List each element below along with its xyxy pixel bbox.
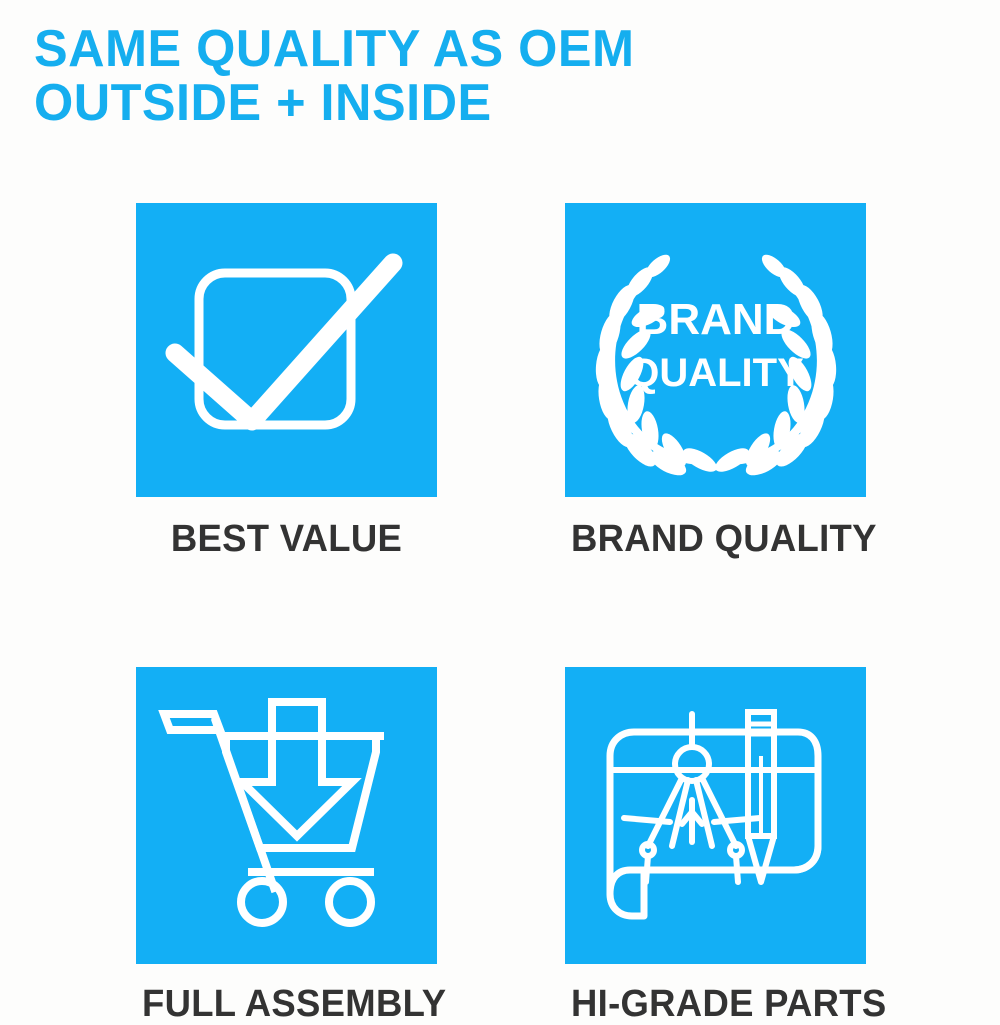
checkbox-check-icon: [157, 225, 417, 475]
headline: SAME QUALITY AS OEM OUTSIDE + INSIDE: [34, 22, 934, 130]
badge-text-quality: QUALITY: [628, 351, 804, 395]
headline-line-1: SAME QUALITY AS OEM: [34, 22, 907, 76]
feature-caption-hi-grade-parts: HI-GRADE PARTS: [571, 984, 860, 1024]
feature-tile-brand-quality: BRAND QUALITY: [565, 203, 866, 497]
feature-caption-best-value: BEST VALUE: [142, 519, 431, 559]
feature-item-brand-quality: BRAND QUALITY BRAND QUALITY: [565, 203, 866, 559]
pencil-icon: [748, 712, 774, 882]
shopping-cart-download-icon: [156, 696, 418, 936]
feature-caption-full-assembly: FULL ASSEMBLY: [142, 984, 431, 1024]
badge-text-brand: BRAND: [636, 295, 795, 344]
feature-item-best-value: BEST VALUE: [136, 203, 437, 559]
compass-icon: [624, 714, 760, 882]
feature-tile-full-assembly: [136, 667, 437, 964]
blueprint-compass-pencil-icon: [596, 696, 836, 936]
feature-caption-brand-quality: BRAND QUALITY: [571, 519, 860, 559]
laurel-wreath-icon: BRAND QUALITY: [578, 224, 854, 476]
headline-line-2: OUTSIDE + INSIDE: [34, 76, 907, 130]
feature-item-hi-grade-parts: HI-GRADE PARTS: [565, 667, 866, 1024]
download-arrow-icon: [242, 702, 352, 836]
feature-tile-hi-grade-parts: [565, 667, 866, 964]
feature-tile-best-value: [136, 203, 437, 497]
feature-item-full-assembly: FULL ASSEMBLY: [136, 667, 437, 1024]
feature-grid: BEST VALUE: [136, 203, 866, 1024]
